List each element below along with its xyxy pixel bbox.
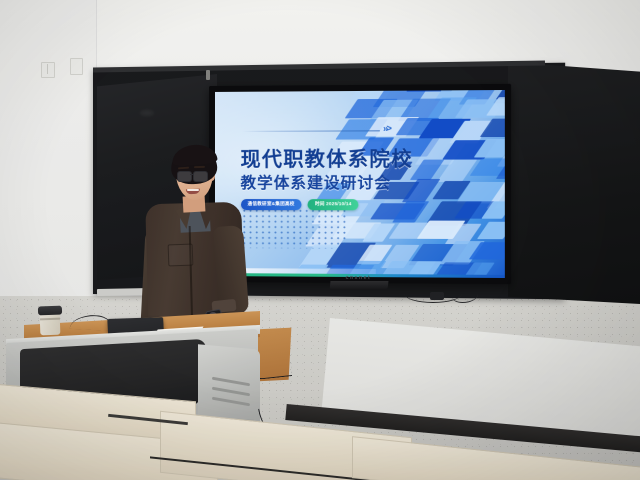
- display-panel[interactable]: »> 现代职教体系院校 教学体系建设研讨会 通信教研室&集团高校 时间 2025…: [209, 84, 511, 284]
- blackboard-clip: [206, 70, 210, 80]
- blackboard-left-panel: [97, 74, 217, 280]
- left-wall-panel: [0, 0, 97, 310]
- classroom-presentation-photo: »> 现代职教体系院校 教学体系建设研讨会 通信教研室&集团高校 时间 2025…: [0, 0, 640, 480]
- power-socket-icon[interactable]: [70, 58, 83, 75]
- thermos-lid[interactable]: [38, 306, 62, 316]
- display-mount: [330, 281, 389, 290]
- blackboard-right-panel: [508, 62, 640, 304]
- thermos-cup[interactable]: [40, 313, 61, 336]
- switch-divider: [47, 64, 48, 74]
- cable-plug: [430, 292, 444, 300]
- blackboard-smudge: [140, 110, 154, 116]
- light-switch-icon[interactable]: [41, 62, 55, 78]
- display-bezel: [209, 84, 511, 284]
